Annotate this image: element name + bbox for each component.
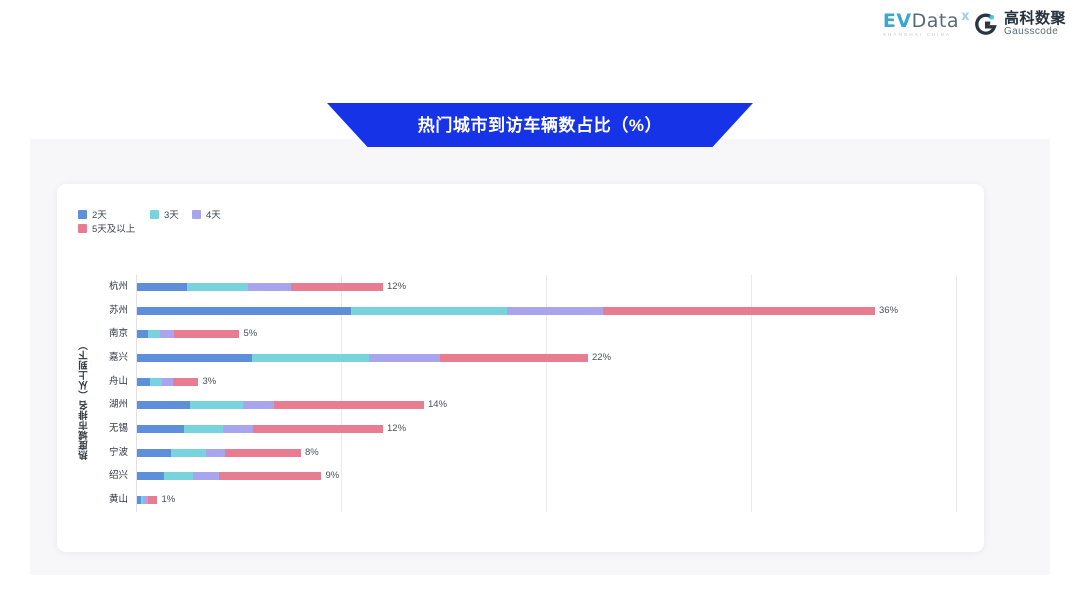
bar-segment[interactable] — [243, 401, 275, 409]
bar-segment[interactable] — [440, 354, 588, 362]
bar-segment[interactable] — [148, 496, 157, 504]
stacked-bar[interactable] — [137, 283, 383, 291]
gausscode-en-name: Gausscode — [1004, 27, 1066, 38]
bar-segment[interactable] — [164, 472, 194, 480]
chart-card: 2天 3天 4天 5天及以上 热度城市排名（从上到下） 杭州12%苏州36%南京… — [57, 184, 984, 552]
bar-segment[interactable] — [351, 307, 507, 315]
bar-segment[interactable] — [225, 449, 301, 457]
bar-segment[interactable] — [193, 472, 219, 480]
bar-segment[interactable] — [253, 425, 383, 433]
bar-segment[interactable] — [369, 354, 441, 362]
bar-segment[interactable] — [219, 472, 322, 480]
bar-segment[interactable] — [171, 449, 206, 457]
stacked-bar[interactable] — [137, 425, 383, 433]
stacked-bar[interactable] — [137, 449, 301, 457]
bar-segment[interactable] — [137, 330, 148, 338]
stacked-bar[interactable] — [137, 472, 322, 480]
y-axis-tick-label: 黄山 — [80, 495, 128, 505]
stacked-bar[interactable] — [137, 354, 588, 362]
bar-segment[interactable] — [173, 378, 198, 386]
bar-value-label: 36% — [879, 306, 898, 316]
evdata-superscript-x: x — [961, 7, 970, 27]
bar-segment[interactable] — [137, 378, 150, 386]
bar-segment[interactable] — [187, 283, 247, 291]
bar-segment[interactable] — [137, 401, 190, 409]
bar-segment[interactable] — [206, 449, 225, 457]
chart-row: 南京5% — [136, 322, 956, 346]
stacked-bar[interactable] — [137, 378, 199, 386]
stacked-bar[interactable] — [137, 401, 424, 409]
evdata-prefix: EV — [883, 10, 912, 32]
bar-value-label: 9% — [326, 471, 340, 481]
stacked-bar-chart: 热度城市排名（从上到下） 杭州12%苏州36%南京5%嘉兴22%舟山3%湖州14… — [57, 184, 984, 552]
plot-area: 杭州12%苏州36%南京5%嘉兴22%舟山3%湖州14%无锡12%宁波8%绍兴9… — [136, 275, 956, 512]
chart-row: 黄山1% — [136, 488, 956, 512]
y-axis-tick-label: 绍兴 — [80, 471, 128, 481]
chart-row: 杭州12% — [136, 275, 956, 299]
page-title: 热门城市到访车辆数占比（%） — [418, 111, 663, 136]
evdata-suffix: Data — [912, 10, 959, 32]
bar-segment[interactable] — [274, 401, 424, 409]
bar-value-label: 14% — [428, 400, 447, 410]
gridline — [956, 275, 957, 512]
bar-value-label: 1% — [162, 495, 176, 505]
bar-value-label: 8% — [305, 448, 319, 458]
bar-segment[interactable] — [248, 283, 291, 291]
bar-segment[interactable] — [190, 401, 242, 409]
y-axis-tick-label: 南京 — [80, 329, 128, 339]
y-axis-tick-label: 湖州 — [80, 400, 128, 410]
y-axis-tick-label: 嘉兴 — [80, 353, 128, 363]
bar-value-label: 12% — [387, 282, 406, 292]
bar-value-label: 3% — [203, 377, 217, 387]
evdata-wordmark: EVDatax — [883, 11, 959, 31]
stacked-bar[interactable] — [137, 330, 240, 338]
gausscode-c-mark-icon — [973, 12, 998, 37]
bar-value-label: 5% — [244, 329, 258, 339]
bar-value-label: 22% — [592, 353, 611, 363]
gausscode-logo: 高科数聚 Gausscode — [973, 11, 1066, 37]
y-axis-tick-label: 苏州 — [80, 306, 128, 316]
chart-row: 苏州36% — [136, 299, 956, 323]
evdata-logo: EVDatax shanghai china — [883, 11, 959, 37]
bar-segment[interactable] — [137, 472, 164, 480]
bar-segment[interactable] — [150, 378, 163, 386]
bar-segment[interactable] — [137, 449, 171, 457]
bar-segment[interactable] — [184, 425, 223, 433]
bar-segment[interactable] — [160, 330, 174, 338]
chart-row: 无锡12% — [136, 417, 956, 441]
bar-segment[interactable] — [223, 425, 253, 433]
bar-segment[interactable] — [137, 354, 252, 362]
header-logo-bar: EVDatax shanghai china 高科数聚 Gausscode — [0, 0, 1080, 58]
chart-row: 湖州14% — [136, 394, 956, 418]
chart-row: 宁波8% — [136, 441, 956, 465]
evdata-tagline: shanghai china — [883, 32, 951, 37]
bar-segment[interactable] — [162, 378, 173, 386]
bar-segment[interactable] — [603, 307, 875, 315]
bar-segment[interactable] — [507, 307, 603, 315]
bar-segment[interactable] — [291, 283, 383, 291]
chart-row: 舟山3% — [136, 370, 956, 394]
stacked-bar[interactable] — [137, 307, 875, 315]
bar-segment[interactable] — [137, 425, 184, 433]
bar-segment[interactable] — [252, 354, 369, 362]
bar-value-label: 12% — [387, 424, 406, 434]
y-axis-tick-label: 无锡 — [80, 424, 128, 434]
bar-segment[interactable] — [137, 307, 351, 315]
logo-group: EVDatax shanghai china 高科数聚 Gausscode — [883, 11, 1066, 37]
y-axis-tick-label: 宁波 — [80, 448, 128, 458]
y-axis-tick-label: 杭州 — [80, 282, 128, 292]
chart-row: 绍兴9% — [136, 465, 956, 489]
bar-segment[interactable] — [148, 330, 159, 338]
chart-row: 嘉兴22% — [136, 346, 956, 370]
gausscode-cn-name: 高科数聚 — [1004, 11, 1066, 27]
bar-segment[interactable] — [137, 283, 187, 291]
gausscode-text: 高科数聚 Gausscode — [1004, 11, 1066, 37]
y-axis-tick-label: 舟山 — [80, 377, 128, 387]
bar-segment[interactable] — [174, 330, 240, 338]
stacked-bar[interactable] — [137, 496, 158, 504]
chart-title-banner: 热门城市到访车辆数占比（%） — [327, 103, 753, 147]
